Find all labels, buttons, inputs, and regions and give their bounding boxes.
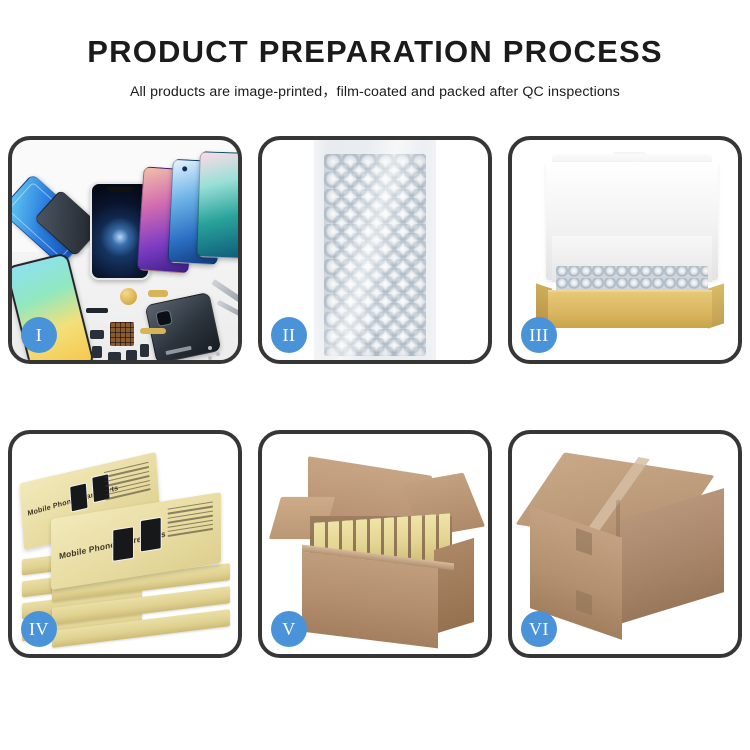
step-panel-2: II xyxy=(258,136,492,364)
connector-part-c xyxy=(108,352,121,360)
front-camera-dot xyxy=(182,166,187,171)
screw-part-a xyxy=(208,346,212,350)
page-title: PRODUCT PREPARATION PROCESS xyxy=(0,34,750,70)
carton-right-side xyxy=(434,538,474,634)
box-spec-lines-front xyxy=(168,501,213,539)
connector-part-a xyxy=(90,330,104,339)
process-steps-grid: I II III xyxy=(8,136,742,696)
step-panel-3: III xyxy=(508,136,742,364)
carton-front-face xyxy=(302,552,438,649)
box-screen-image-rear-a xyxy=(69,482,88,512)
plastic-sheen xyxy=(314,140,436,360)
step-panel-5: V xyxy=(258,430,492,658)
box-spec-lines-rear xyxy=(104,462,151,503)
connector-part-b xyxy=(92,346,102,358)
step-panel-6: VI xyxy=(508,430,742,658)
box-screen-image-front-a xyxy=(112,526,134,562)
carton-handle-cut-bottom xyxy=(576,590,592,616)
product-preparation-infographic: PRODUCT PREPARATION PROCESS All products… xyxy=(0,0,750,750)
page-subtitle: All products are image-printed，film-coat… xyxy=(0,81,750,101)
step-badge-6: VI xyxy=(521,611,557,647)
step-panel-1: I xyxy=(8,136,242,364)
flex-cable-part-b xyxy=(140,328,166,334)
screen-wallpaper-glow xyxy=(100,217,140,257)
earpiece-mesh-part xyxy=(86,308,108,313)
connector-part-d xyxy=(126,350,137,360)
teal-phone-screen xyxy=(196,151,238,259)
battery-connector-part xyxy=(140,344,149,357)
housing-label xyxy=(165,346,191,355)
flex-cable-part-a xyxy=(148,290,168,297)
step-badge-5: V xyxy=(271,611,307,647)
screw-part-c xyxy=(208,356,212,360)
speaker-coil-part xyxy=(120,288,137,305)
box-kraft-front xyxy=(548,292,712,328)
carton-handle-cut-top xyxy=(576,528,592,556)
screen-notch xyxy=(107,187,133,192)
step-badge-3: III xyxy=(521,317,557,353)
chip-grid-part xyxy=(110,322,134,346)
screw-part-b xyxy=(216,352,220,356)
step-panel-4: Mobile Phone Spare Parts Mobile Phone Sp… xyxy=(8,430,242,658)
step-badge-4: IV xyxy=(21,611,57,647)
camera-module-icon xyxy=(155,309,173,327)
step-badge-1: I xyxy=(21,317,57,353)
header: PRODUCT PREPARATION PROCESS All products… xyxy=(0,0,750,101)
step-badge-2: II xyxy=(271,317,307,353)
box-screen-image-front-b xyxy=(140,517,162,553)
